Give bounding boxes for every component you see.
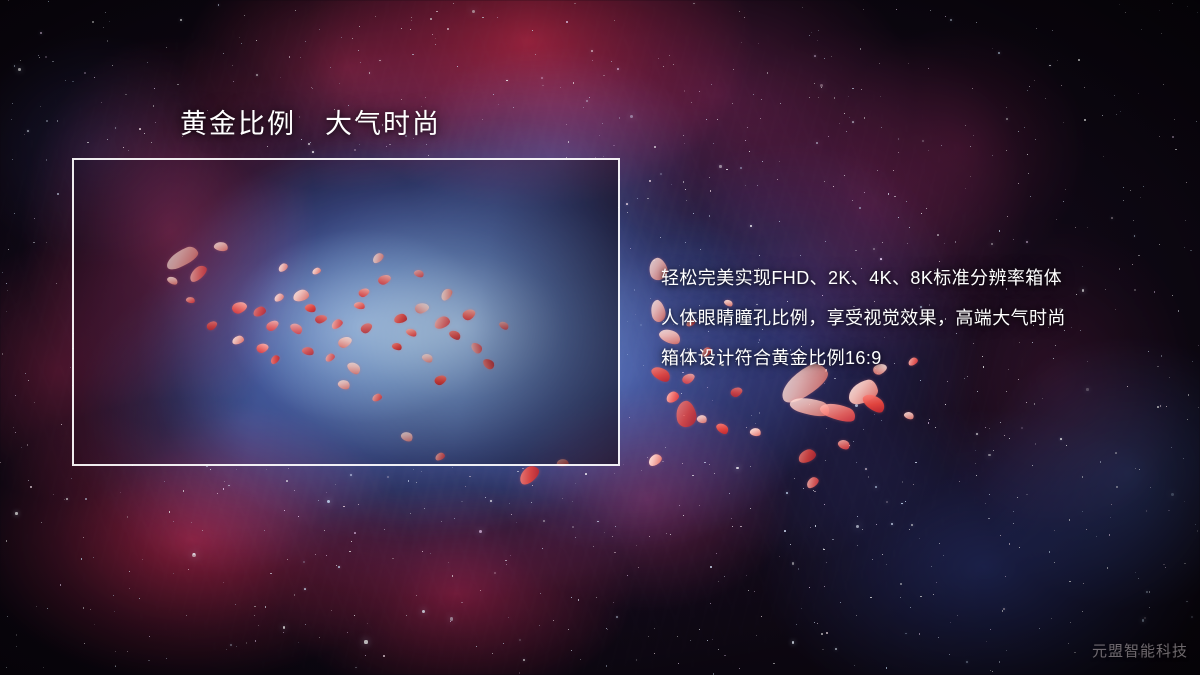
description-line-3: 箱体设计符合黄金比例16:9 [661,338,1181,378]
description-line-1: 轻松完美实现FHD、2K、4K、8K标准分辨率箱体 [661,258,1181,298]
flower-petal [860,390,888,416]
flower-petal [788,392,831,421]
flower-petal [715,421,731,436]
slide-canvas: 黄金比例 大气时尚 轻松完美实现FHD、2K、4K、8K标准分辨率箱体 人体眼睛… [0,0,1200,675]
flower-petal [818,398,857,426]
flower-petal [646,452,663,468]
flower-petal [796,447,817,464]
feature-description: 轻松完美实现FHD、2K、4K、8K标准分辨率箱体 人体眼睛瞳孔比例，享受视觉效… [661,258,1181,378]
flower-petal [837,438,852,452]
preview-shading [74,160,618,464]
description-line-2: 人体眼睛瞳孔比例，享受视觉效果，高端大气时尚 [661,298,1181,338]
preview-image [74,160,618,464]
flower-petal [903,410,915,420]
flower-petal [846,378,880,406]
flower-petal [749,427,762,437]
nebula-preview-frame[interactable] [72,158,620,466]
flower-petal [665,390,681,404]
page-title: 黄金比例 大气时尚 [180,102,441,141]
company-watermark: 元盟智能科技 [1092,640,1188,661]
flower-petal [674,399,699,429]
flower-petal [805,475,821,490]
flower-petal [516,463,542,488]
flower-petal [729,385,744,399]
flower-petal [696,414,708,425]
